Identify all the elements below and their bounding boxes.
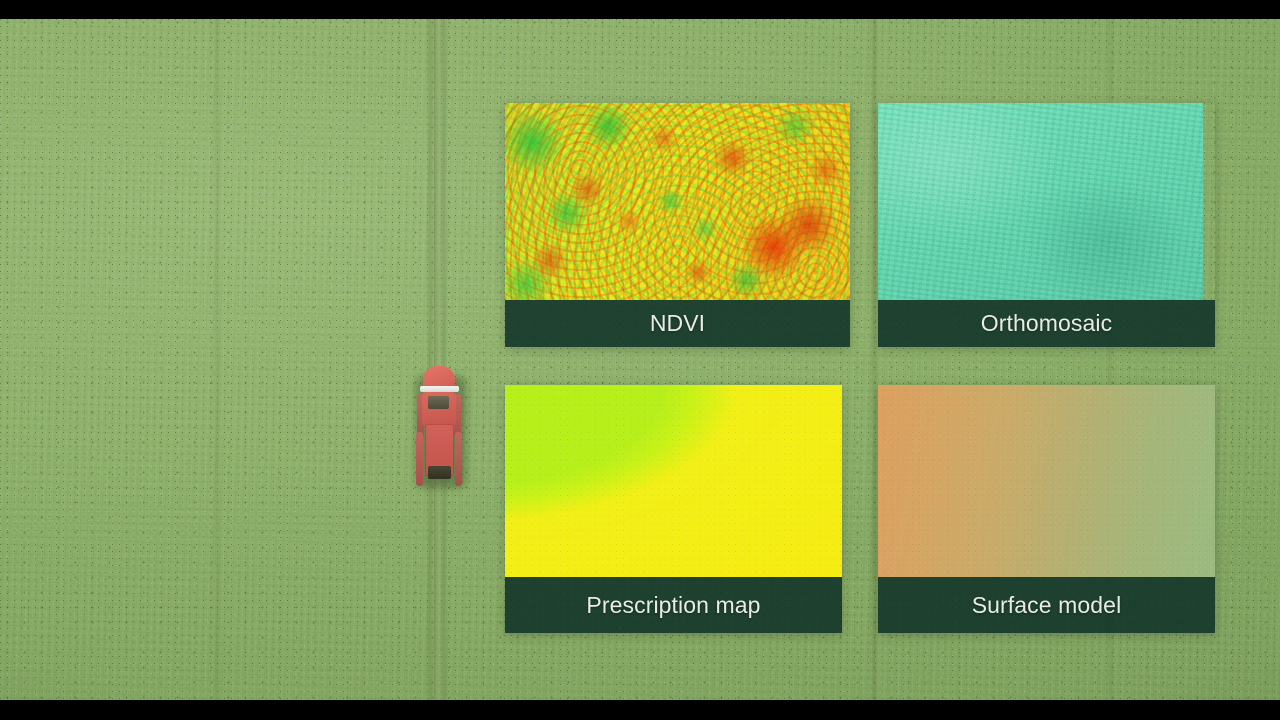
letterbox-bar-bottom [0, 700, 1280, 720]
card-prescription-map-label: Prescription map [505, 577, 842, 633]
tractor-engine-block [428, 396, 449, 409]
prescription-map-thumbnail [505, 385, 842, 577]
surface-model-thumbnail-grain [878, 385, 1215, 577]
ndvi-thumbnail-grain [505, 103, 850, 300]
letterbox-bar-top [0, 0, 1280, 19]
tractor-wheel-rear-right [455, 432, 462, 486]
card-surface-model[interactable]: Surface model [878, 385, 1215, 633]
orthomosaic-thumbnail [878, 103, 1203, 300]
card-surface-model-label: Surface model [878, 577, 1215, 633]
ndvi-thumbnail [505, 103, 850, 300]
card-orthomosaic-label: Orthomosaic [878, 300, 1215, 347]
card-prescription-map[interactable]: Prescription map [505, 385, 842, 633]
tractor-rear-hitch [428, 466, 451, 479]
surface-model-thumbnail [878, 385, 1215, 577]
orthomosaic-thumbnail-grain [878, 103, 1203, 300]
video-frame: NDVI Orthomosaic Prescription map Surfac… [0, 0, 1280, 720]
tractor-wheel-rear-left [416, 432, 423, 486]
prescription-map-thumbnail-grain [505, 385, 842, 577]
card-ndvi[interactable]: NDVI [505, 103, 850, 347]
tractor [412, 366, 466, 493]
card-orthomosaic[interactable]: Orthomosaic [878, 103, 1215, 347]
card-ndvi-label: NDVI [505, 300, 850, 347]
